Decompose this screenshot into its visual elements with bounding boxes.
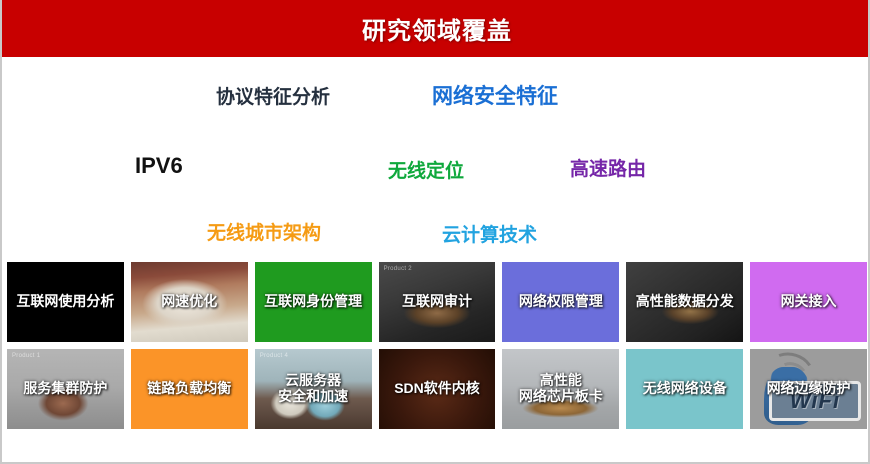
tile-wireless-network-equipment[interactable]: 无线网络设备	[626, 349, 743, 429]
tile-label: 互联网使用分析	[13, 294, 117, 310]
tile-network-permission-management[interactable]: 网络权限管理	[502, 262, 619, 342]
tile-label: 网关接入	[778, 294, 840, 310]
keyword-high-speed-routing: 高速路由	[570, 160, 646, 179]
product-tile-grid: 互联网使用分析 网速优化 互联网身份管理 Product 2 互联网审计 网络权…	[7, 262, 867, 429]
tile-label: 服务集群防护	[20, 381, 110, 397]
tile-product-badge: Product 2	[384, 266, 412, 272]
tile-label: 互联网审计	[399, 294, 475, 310]
tile-label: SDN软件内核	[391, 381, 483, 397]
tile-label: 高性能 网络芯片板卡	[516, 373, 606, 404]
tile-sdn-software-kernel[interactable]: SDN软件内核	[379, 349, 496, 429]
tile-label: 网络边缘防护	[764, 381, 854, 397]
tile-gateway-access[interactable]: 网关接入	[750, 262, 867, 342]
tile-internet-audit[interactable]: Product 2 互联网审计	[379, 262, 496, 342]
tile-product-badge: Product 1	[12, 353, 40, 359]
tile-network-edge-protection[interactable]: WiFi 网络边缘防护	[750, 349, 867, 429]
tile-link-load-balancing[interactable]: 链路负载均衡	[131, 349, 248, 429]
tile-internet-identity-management[interactable]: 互联网身份管理	[255, 262, 372, 342]
tile-network-speed-optimization[interactable]: 网速优化	[131, 262, 248, 342]
slide-header-band: 研究领域覆盖	[2, 0, 870, 57]
keyword-protocol-analysis: 协议特征分析	[216, 88, 330, 107]
tile-label: 互联网身份管理	[261, 294, 365, 310]
keyword-wireless-city-architecture: 无线城市架构	[207, 224, 321, 243]
tile-label: 链路负载均衡	[144, 381, 234, 397]
slide-canvas: 研究领域覆盖 协议特征分析 网络安全特征 IPV6 无线定位 高速路由 无线城市…	[0, 0, 870, 464]
tile-cloud-server-security-acceleration[interactable]: Product 4 云服务器 安全和加速	[255, 349, 372, 429]
tile-label: 网络权限管理	[516, 294, 606, 310]
keyword-ipv6: IPV6	[135, 155, 183, 177]
keyword-network-security: 网络安全特征	[432, 86, 558, 107]
tile-label: 云服务器 安全和加速	[275, 373, 351, 404]
keyword-wireless-locating: 无线定位	[388, 162, 464, 181]
tile-high-performance-data-distribution[interactable]: 高性能数据分发	[626, 262, 743, 342]
tile-label: 网速优化	[158, 294, 220, 310]
tile-label: 无线网络设备	[640, 381, 730, 397]
page-title: 研究领域覆盖	[362, 11, 512, 46]
keyword-cloud-computing: 云计算技术	[442, 226, 537, 245]
tile-service-cluster-protection[interactable]: Product 1 服务集群防护	[7, 349, 124, 429]
tile-label: 高性能数据分发	[633, 294, 737, 310]
tile-high-performance-network-chip-card[interactable]: 高性能 网络芯片板卡	[502, 349, 619, 429]
tile-internet-usage-analysis[interactable]: 互联网使用分析	[7, 262, 124, 342]
tile-product-badge: Product 4	[260, 353, 288, 359]
